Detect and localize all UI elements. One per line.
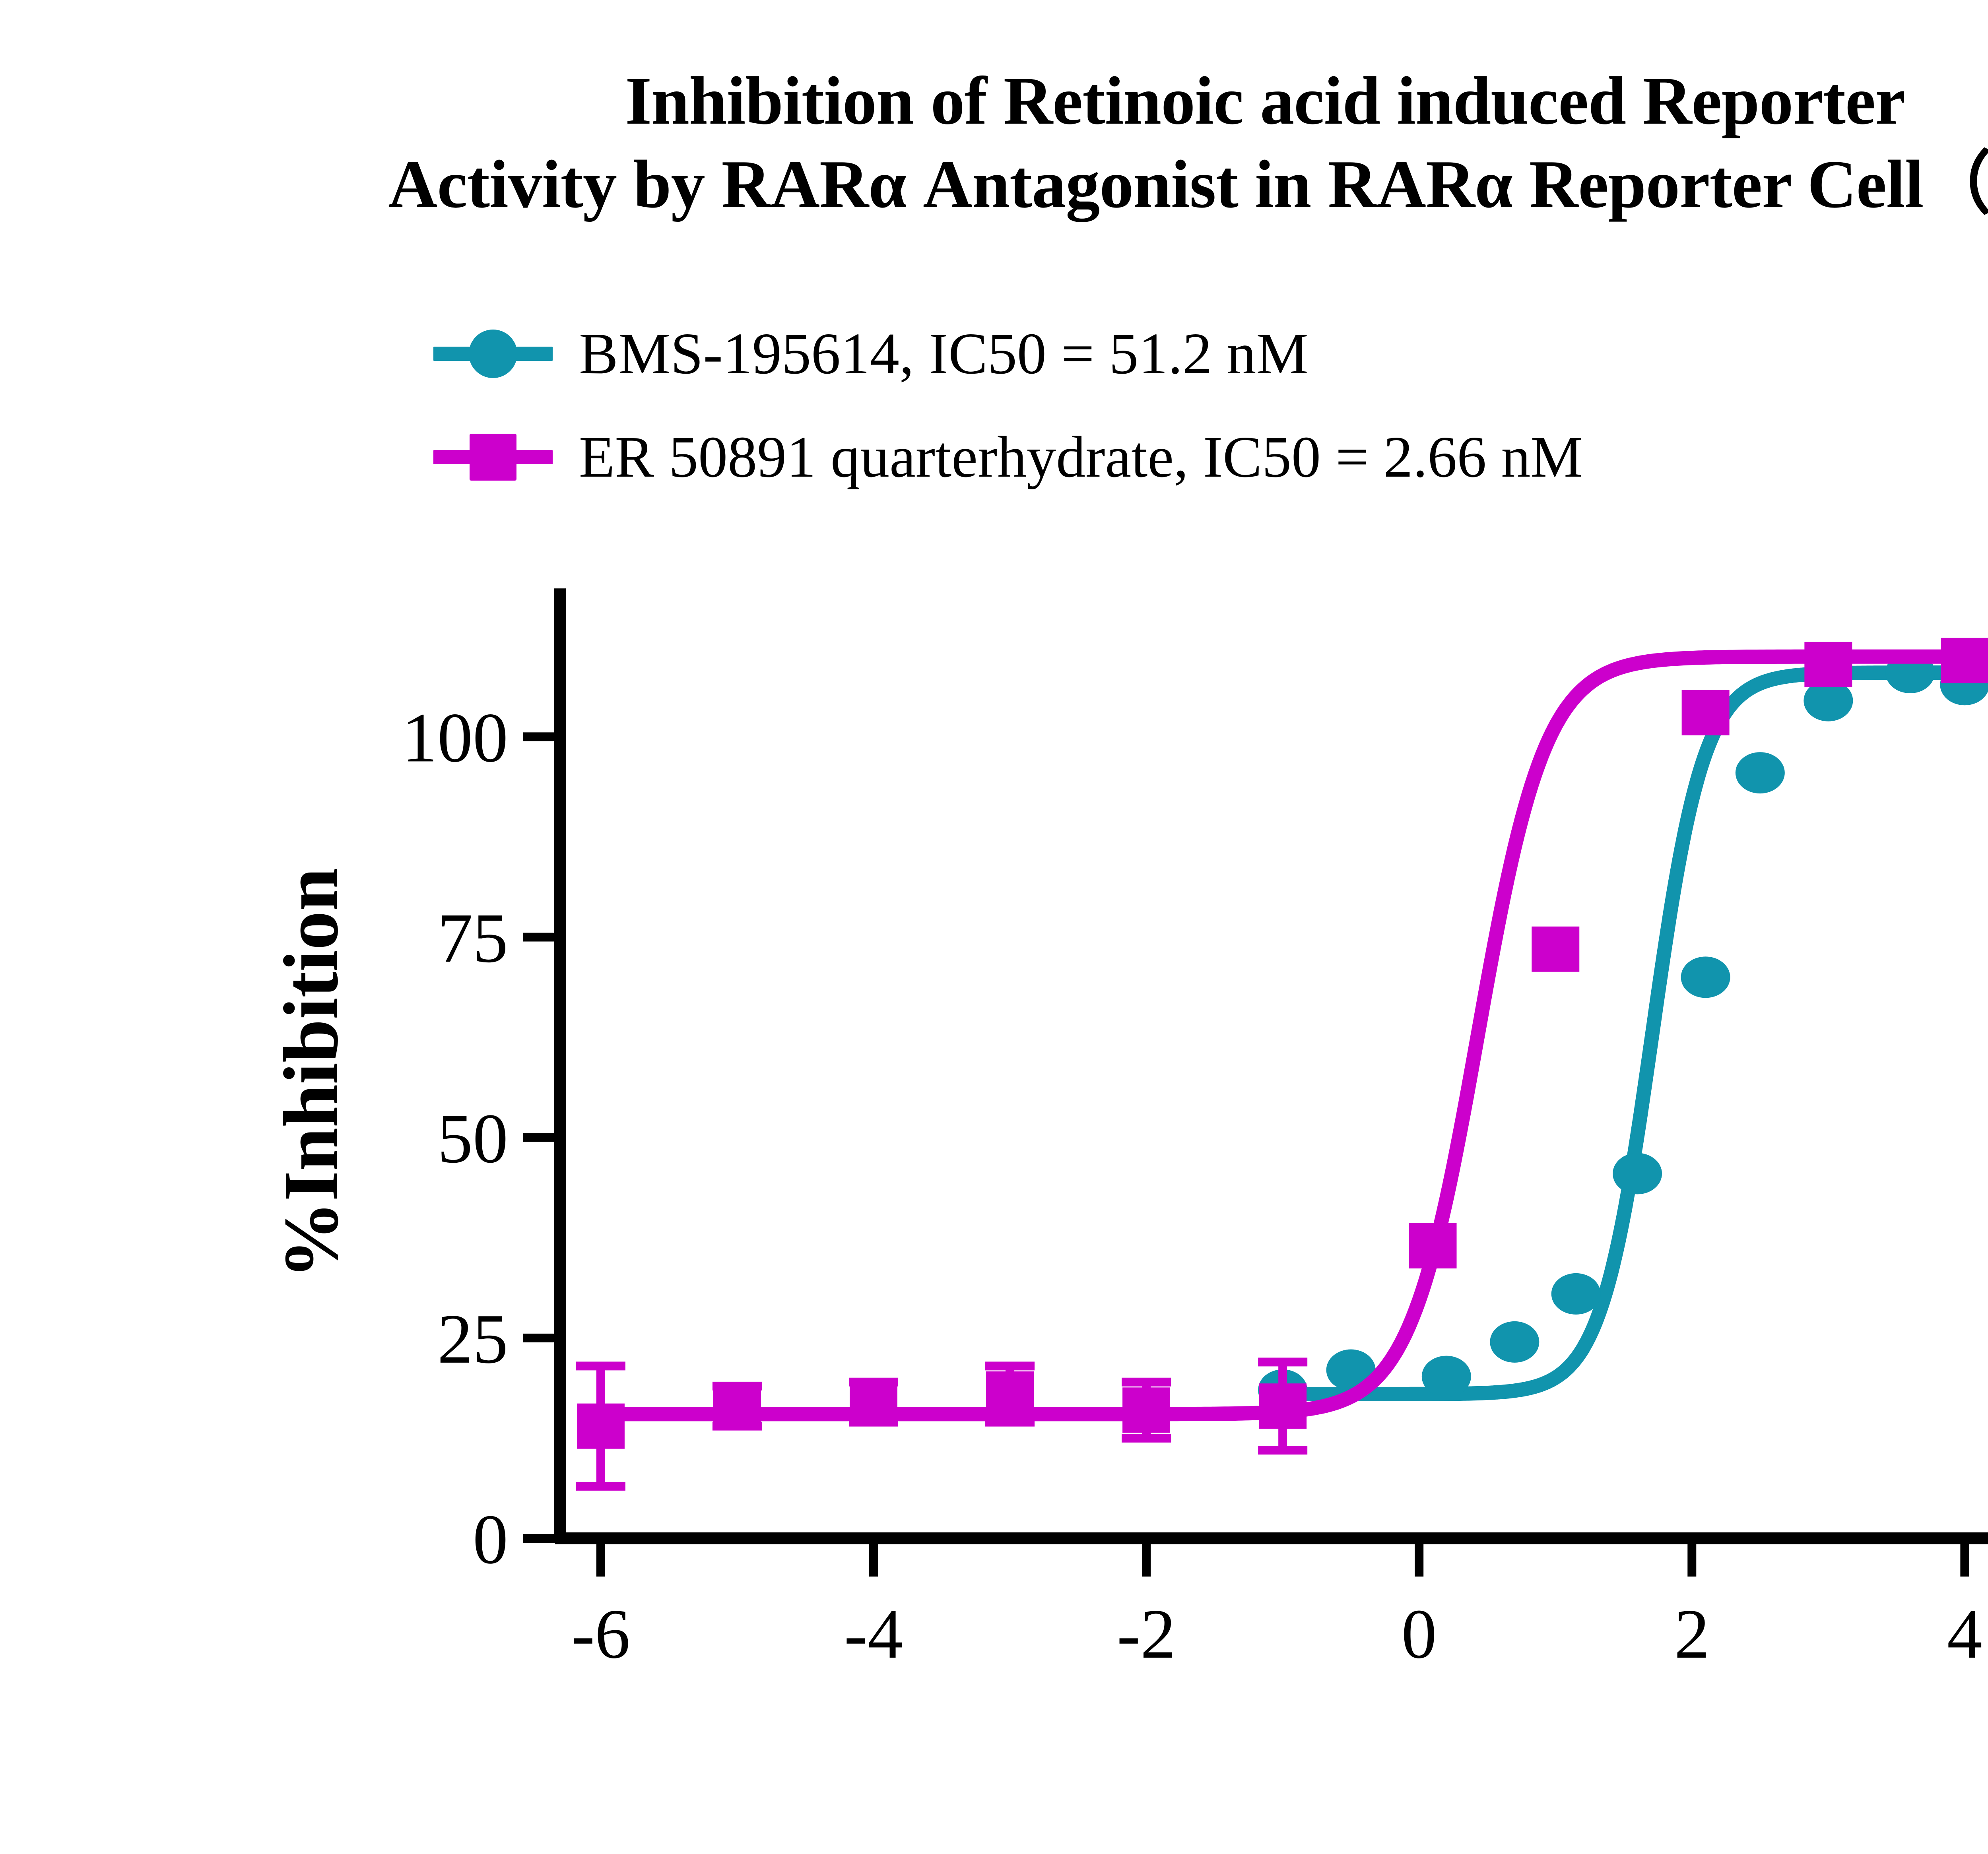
data-point-square[interactable] <box>713 1383 761 1429</box>
y-axis-title: %Inhibition <box>268 868 354 1279</box>
data-point-circle[interactable] <box>1490 1321 1539 1363</box>
x-tick-label: 4 <box>1947 1594 1982 1673</box>
data-point-square[interactable] <box>986 1371 1034 1417</box>
chart-page: Inhibition of Retinoic acid induced Repo… <box>0 0 1988 1854</box>
data-point-circle[interactable] <box>1551 1273 1601 1315</box>
x-tick-label: -6 <box>571 1594 630 1673</box>
x-tick-label: -2 <box>1117 1594 1176 1673</box>
title-line-2: Activity by RARα Antagonist in RARα Repo… <box>0 143 1988 227</box>
data-point-square[interactable] <box>1682 690 1730 735</box>
data-point-circle[interactable] <box>1736 752 1785 793</box>
data-point-square[interactable] <box>1941 638 1988 683</box>
data-point-square[interactable] <box>577 1404 625 1449</box>
data-point-circle[interactable] <box>1681 956 1730 998</box>
fit-curve <box>1283 673 1965 1394</box>
series-1 <box>1258 652 1988 1411</box>
legend-label-series-2: ER 50891 quarterhydrate, IC50 = 2.66 nM <box>553 428 1583 487</box>
data-point-square[interactable] <box>1122 1387 1170 1433</box>
y-tick-label: 50 <box>437 1099 508 1178</box>
legend-marker-square-icon <box>433 429 553 485</box>
x-axis-title: Log[CPDs] nM <box>1021 1696 1530 1701</box>
data-point-square[interactable] <box>1804 642 1852 687</box>
x-tick-label: 0 <box>1402 1594 1437 1673</box>
x-tick-label: 2 <box>1674 1594 1710 1673</box>
x-tick-label: -4 <box>844 1594 903 1673</box>
data-point-square[interactable] <box>850 1379 897 1425</box>
chart-svg: 0255075100-6-4-2024Log[CPDs] nM%Inhibiti… <box>0 509 1988 1701</box>
data-point-square[interactable] <box>1259 1383 1307 1429</box>
y-tick-label: 25 <box>437 1299 508 1378</box>
y-tick-label: 75 <box>437 899 508 977</box>
y-tick-label: 0 <box>473 1500 508 1579</box>
circle-icon <box>469 330 517 378</box>
legend-item-series-2[interactable]: ER 50891 quarterhydrate, IC50 = 2.66 nM <box>433 405 1988 509</box>
data-point-square[interactable] <box>1532 927 1579 972</box>
page-title: Inhibition of Retinoic acid induced Repo… <box>0 60 1988 227</box>
data-point-square[interactable] <box>1409 1223 1457 1268</box>
legend-marker-circle-icon <box>433 326 553 382</box>
legend-label-series-1: BMS-195614, IC50 = 51.2 nM <box>553 324 1309 383</box>
data-point-circle[interactable] <box>1422 1356 1471 1397</box>
square-icon <box>470 434 516 481</box>
plot-area: 0255075100-6-4-2024Log[CPDs] nM%Inhibiti… <box>0 509 1988 1701</box>
y-tick-label: 100 <box>402 698 508 777</box>
data-point-circle[interactable] <box>1613 1153 1662 1194</box>
chart-legend: BMS-195614, IC50 = 51.2 nM ER 50891 quar… <box>433 302 1988 509</box>
legend-item-series-1[interactable]: BMS-195614, IC50 = 51.2 nM <box>433 302 1988 405</box>
title-line-1: Inhibition of Retinoic acid induced Repo… <box>0 60 1988 143</box>
